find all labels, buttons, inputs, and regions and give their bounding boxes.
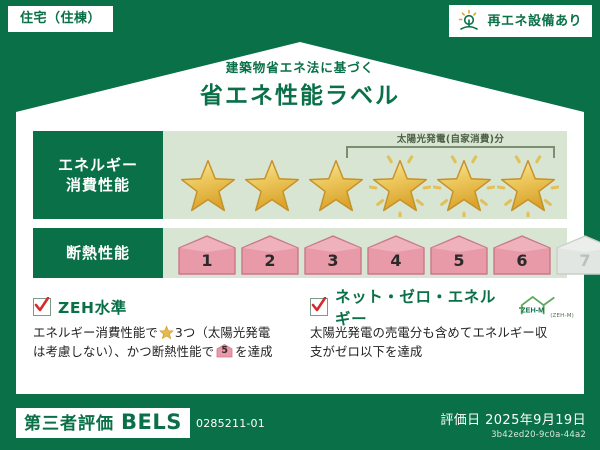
building-type-badge: 住宅（住棟）	[8, 6, 113, 32]
claims-section: ZEH水準 エネルギー消費性能で3つ（太陽光発電は考慮しない）、かつ断熱性能で5…	[33, 296, 567, 380]
insulation-level-number: 1	[201, 253, 212, 275]
energy-row-value: 太陽光発電(自家消費)分	[163, 131, 567, 219]
evaluation-date: 評価日 2025年9月19日	[440, 409, 586, 428]
label-subtitle: 建築物省エネ法に基づく	[0, 57, 600, 76]
insulation-row-label: 断熱性能	[33, 228, 163, 278]
page-title: 省エネ性能ラベル	[0, 76, 600, 110]
insulation-level-marker: 2	[240, 235, 300, 275]
star-base	[305, 155, 367, 215]
claim-net-zero-energy: ネット・ゼロ・エネルギー ZEH-M (ZEH-M) 太陽光発電の売電分も含めて…	[290, 296, 567, 380]
star-icon	[159, 325, 174, 340]
energy-row-label: エネルギー 消費性能	[33, 131, 163, 219]
energy-row-label-line2: 消費性能	[58, 175, 138, 195]
star-solar	[433, 155, 495, 215]
insulation-level-marker: 1	[177, 235, 237, 275]
claim-nze-body: 太陽光発電の売電分も含めてエネルギー収支がゼロ以下を達成	[310, 323, 557, 361]
insulation-level-scale: 1234567	[177, 232, 559, 275]
star-solar	[497, 155, 559, 215]
insulation-level-number: 7	[579, 253, 590, 275]
insulation-level-number: 4	[390, 253, 401, 275]
checkbox-checked-icon	[33, 298, 51, 316]
zeh-m-logo-icon: ZEH-M (ZEH-M)	[519, 294, 557, 320]
star-rating	[177, 155, 559, 215]
insulation-level-marker: 6	[492, 235, 552, 275]
energy-performance-label: 住宅（住棟） 再エネ設備あり 建築物省エネ法に基づく 省エネ性能ラベル エネ	[0, 0, 600, 450]
inline-insulation-level-badge: 5	[216, 344, 233, 358]
bels-en-label: BELS	[121, 412, 182, 433]
insulation-level-number: 6	[516, 253, 527, 275]
insulation-level-number: 3	[327, 253, 338, 275]
zeh-m-logo-caption: (ZEH-M)	[550, 313, 574, 319]
claim-nze-header: ネット・ゼロ・エネルギー ZEH-M (ZEH-M)	[310, 296, 557, 318]
checkbox-checked-icon	[310, 298, 328, 316]
renewable-equipment-badge: 再エネ設備あり	[449, 5, 592, 37]
claim-zeh-body: エネルギー消費性能で3つ（太陽光発電は考慮しない）、かつ断熱性能で5を達成	[33, 323, 280, 361]
star-base	[241, 155, 303, 215]
insulation-performance-row: 断熱性能 1234567	[33, 228, 567, 278]
insulation-level-marker: 7	[555, 235, 600, 275]
renewable-badge-label: 再エネ設備あり	[487, 15, 582, 28]
claim-zeh-body-part1: エネルギー消費性能で	[33, 325, 158, 340]
sun-renewable-icon	[457, 9, 481, 33]
document-hash: 3b42ed20-9c0a-44a2	[440, 430, 586, 440]
zeh-m-logo-text: ZEH-M	[521, 305, 544, 314]
footer-right: 評価日 2025年9月19日 3b42ed20-9c0a-44a2	[440, 409, 586, 440]
claim-zeh-body-part3: を達成	[235, 344, 272, 359]
insulation-level-marker: 4	[366, 235, 426, 275]
claim-zeh-header: ZEH水準	[33, 296, 280, 318]
insulation-level-marker: 5	[429, 235, 489, 275]
star-base	[177, 155, 239, 215]
insulation-level-marker: 3	[303, 235, 363, 275]
bels-jp-label: 第三者評価	[24, 416, 114, 433]
solar-bracket-label: 太陽光発電(自家消費)分	[346, 131, 555, 145]
bels-badge: 第三者評価 BELS	[16, 408, 190, 438]
star-solar	[369, 155, 431, 215]
energy-row-label-line1: エネルギー	[58, 155, 138, 175]
insulation-level-number: 5	[453, 253, 464, 275]
claim-zeh-standard: ZEH水準 エネルギー消費性能で3つ（太陽光発電は考慮しない）、かつ断熱性能で5…	[33, 296, 290, 380]
bels-certificate-id: 0285211-01	[196, 417, 265, 430]
insulation-row-value: 1234567	[163, 228, 567, 278]
insulation-level-number: 2	[264, 253, 275, 275]
claim-zeh-title: ZEH水準	[58, 296, 127, 318]
inline-insulation-level-number: 5	[216, 346, 233, 356]
energy-performance-row: エネルギー 消費性能 太陽光発電(自家消費)分	[33, 131, 567, 219]
